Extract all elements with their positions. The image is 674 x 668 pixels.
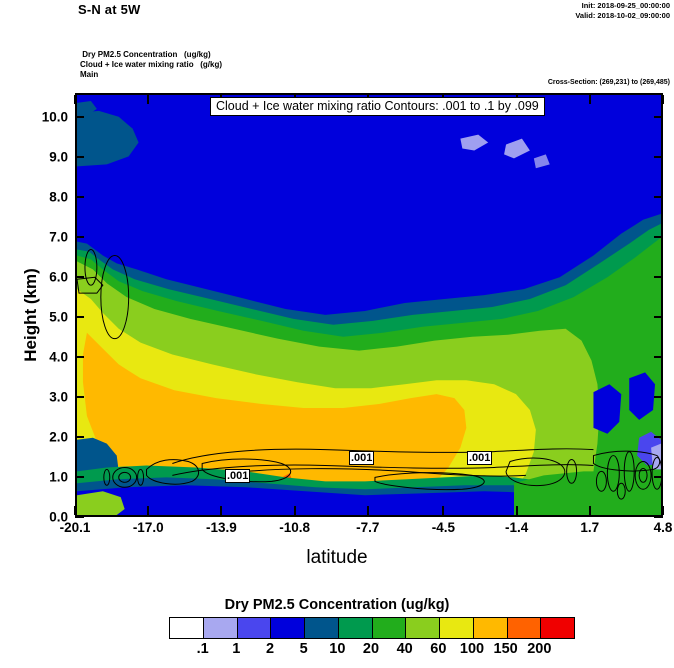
- page-title: S-N at 5W: [78, 2, 140, 17]
- colorbar-swatch-dark-teal-blue: [305, 618, 339, 638]
- colorbar-tick-label: 200: [527, 641, 551, 657]
- colorbar-swatch-amber: [474, 618, 508, 638]
- contour-label: .001: [349, 451, 374, 465]
- x-tick-label: -1.4: [505, 520, 528, 535]
- model-time-block: Init: 2018-09-25_00:00:00 Valid: 2018-10…: [575, 1, 670, 21]
- x-tick-label: -17.0: [133, 520, 164, 535]
- contour-label: .001: [467, 451, 492, 465]
- y-tick-label: 3.0: [8, 390, 68, 405]
- colorbar-tick-label: 2: [266, 641, 274, 657]
- colorbar-tick-label: 60: [430, 641, 446, 657]
- colorbar-tick-label: 5: [300, 641, 308, 657]
- colorbar-tick-label: 40: [397, 641, 413, 657]
- colorbar-tick-label: 150: [494, 641, 518, 657]
- x-tick-label: -10.8: [279, 520, 310, 535]
- colorbar-tick-label: 1: [232, 641, 240, 657]
- field-description: Dry PM2.5 Concentration (ug/kg) Cloud + …: [80, 50, 222, 80]
- colorbar-tick-label: .1: [197, 641, 209, 657]
- x-tick-label: -13.9: [206, 520, 237, 535]
- y-tick-label: 2.0: [8, 430, 68, 445]
- colorbar-swatch-blue: [271, 618, 305, 638]
- y-tick-label: 8.0: [8, 190, 68, 205]
- x-axis-title: latitude: [0, 547, 674, 569]
- y-tick-label: 1.0: [8, 470, 68, 485]
- cross-section-coords: Cross-Section: (269,231) to (269,485): [548, 79, 670, 86]
- colorbar-title: Dry PM2.5 Concentration (ug/kg): [0, 597, 674, 613]
- colorbar-swatch-red: [541, 618, 574, 638]
- y-tick-label: 10.0: [8, 110, 68, 125]
- colorbar-swatch-white: [170, 618, 204, 638]
- x-tick-label: 4.8: [654, 520, 673, 535]
- x-tick-label: -4.5: [432, 520, 455, 535]
- y-tick-label: 9.0: [8, 150, 68, 165]
- colorbar-swatch-orange: [508, 618, 542, 638]
- colorbar-swatch-mid-green: [373, 618, 407, 638]
- colorbar-swatch-light-periwinkle: [204, 618, 238, 638]
- cross-section-plot: .001 .001 .001 Cloud + Ice water mixing …: [75, 93, 663, 517]
- colorbar-tick-label: 20: [363, 641, 379, 657]
- colorbar-tick-labels: .112510204060100150200: [169, 641, 573, 661]
- colorbar: [169, 617, 575, 639]
- colorbar-tick-label: 10: [329, 641, 345, 657]
- contour-label: .001: [225, 469, 250, 483]
- y-tick-label: 0.0: [8, 510, 68, 525]
- x-tick-label: -20.1: [60, 520, 91, 535]
- x-tick-label: -7.7: [356, 520, 379, 535]
- contour-legend-note: Cloud + Ice water mixing ratio Contours:…: [210, 97, 545, 116]
- colorbar-swatch-green: [339, 618, 373, 638]
- colorbar-swatch-blue-violet: [238, 618, 272, 638]
- y-axis-title: Height (km): [21, 240, 41, 390]
- colorbar-swatch-yellow-green: [406, 618, 440, 638]
- colorbar-tick-label: 100: [460, 641, 484, 657]
- init-time: Init: 2018-09-25_00:00:00: [575, 1, 670, 11]
- x-tick-label: 1.7: [580, 520, 599, 535]
- valid-time: Valid: 2018-10-02_09:00:00: [575, 11, 670, 21]
- colorbar-swatch-yellow: [440, 618, 474, 638]
